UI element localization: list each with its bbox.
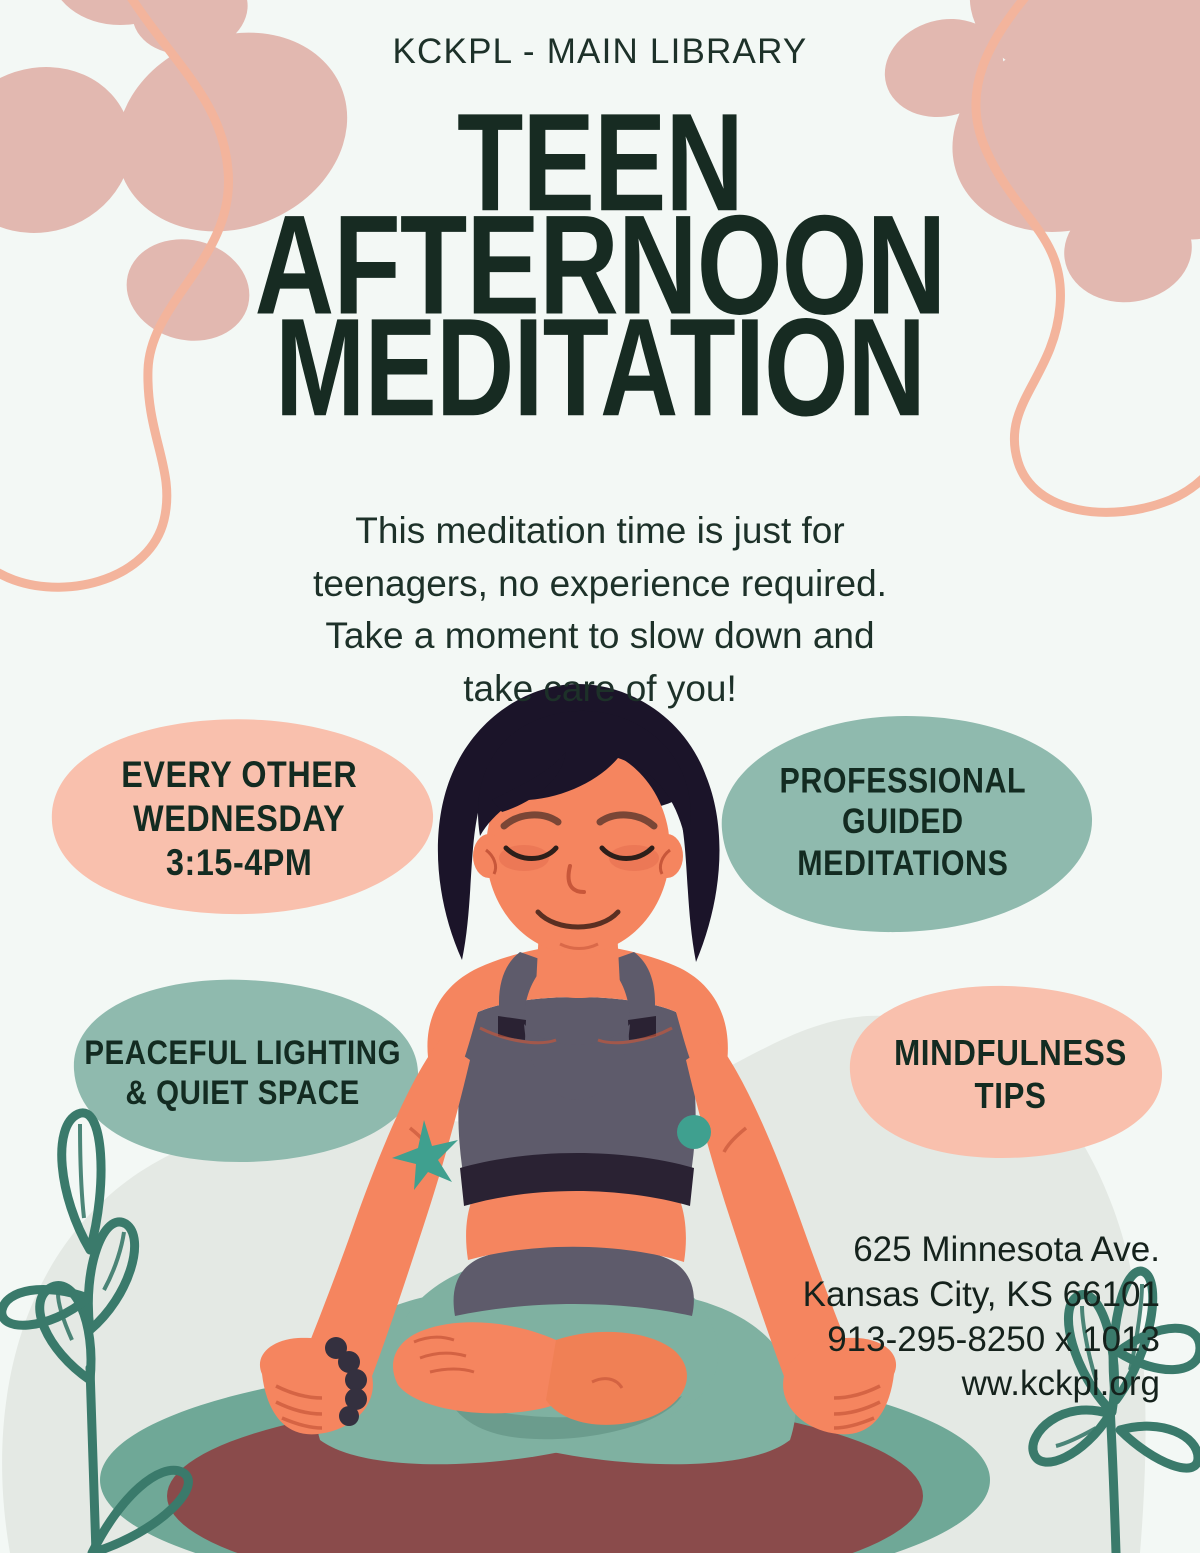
feature-mindfulness-line-2: TIPS xyxy=(894,1075,1127,1117)
contact-info-block: 625 Minnesota Ave. Kansas City, KS 66101… xyxy=(760,1228,1160,1407)
feature-guided-line-3: MEDITATIONS xyxy=(780,843,1027,884)
feature-mindfulness-line-1: MINDFULNESS xyxy=(894,1033,1127,1075)
feature-schedule-line-3: 3:15-4PM xyxy=(121,842,357,886)
feature-schedule-line-2: WEDNESDAY xyxy=(121,798,357,842)
feature-lighting-line-2: & QUIET SPACE xyxy=(85,1073,402,1113)
feature-guided-meditations: PROFESSIONAL GUIDED MEDITATIONS xyxy=(718,712,1088,932)
feature-schedule: EVERY OTHER WEDNESDAY 3:15-4PM xyxy=(44,716,434,925)
contact-website[interactable]: ww.kckpl.org xyxy=(760,1362,1160,1407)
feature-mindfulness-tips: MINDFULNESS TIPS xyxy=(860,993,1160,1158)
meditation-flyer: KCKPL - MAIN LIBRARY TEEN AFTERNOON MEDI… xyxy=(0,0,1200,1553)
library-name-eyebrow: KCKPL - MAIN LIBRARY xyxy=(0,32,1200,72)
feature-guided-line-2: GUIDED xyxy=(780,801,1027,842)
title-line-3: MEDITATION xyxy=(48,309,1152,429)
circle-tattoo xyxy=(677,1115,711,1149)
description-text: This meditation time is just for teenage… xyxy=(290,505,910,715)
feature-guided-line-1: PROFESSIONAL xyxy=(780,760,1027,801)
contact-phone[interactable]: 913-295-8250 x 1013 xyxy=(760,1318,1160,1363)
page-title: TEEN AFTERNOON MEDITATION xyxy=(0,104,1200,410)
feature-peaceful-lighting: PEACEFUL LIGHTING & QUIET SPACE xyxy=(68,980,418,1167)
feature-lighting-line-1: PEACEFUL LIGHTING xyxy=(85,1033,402,1073)
feature-schedule-line-1: EVERY OTHER xyxy=(121,754,357,798)
contact-street: 625 Minnesota Ave. xyxy=(760,1228,1160,1273)
contact-city-state-zip: Kansas City, KS 66101 xyxy=(760,1273,1160,1318)
